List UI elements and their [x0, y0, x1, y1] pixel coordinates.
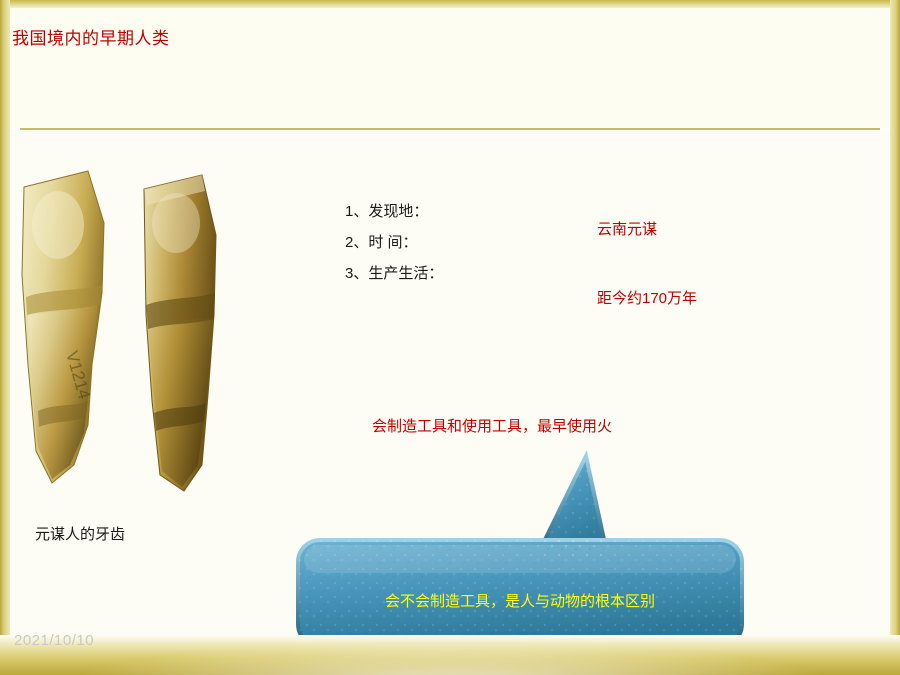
list-item: 3、生产生活： [345, 258, 443, 289]
slide-frame-left [0, 0, 10, 675]
date-stamp: 2021/10/10 [14, 632, 94, 649]
photo-caption: 元谋人的牙齿 [35, 523, 125, 544]
presentation-slide: 我国境内的早期人类 [0, 0, 900, 675]
callout-bubble [290, 440, 750, 655]
list-item: 2、时 间： [345, 227, 443, 258]
slide-frame-right [890, 0, 900, 675]
slide-frame-top [0, 0, 900, 8]
answer-production-life: 会制造工具和使用工具，最早使用火 [372, 415, 612, 436]
yuanmou-teeth-fossil-photo: V1214 [18, 165, 268, 515]
fossil-illustration: V1214 [18, 165, 268, 515]
slide-frame-bottom-highlight [0, 635, 900, 675]
question-list: 1、发现地： 2、时 间： 3、生产生活： [345, 196, 443, 289]
answer-time-period: 距今约170万年 [597, 287, 697, 308]
callout-shape [290, 440, 750, 655]
list-item: 1、发现地： [345, 196, 443, 227]
answer-discovery-place: 云南元谋 [597, 218, 657, 239]
callout-text: 会不会制造工具，是人与动物的根本区别 [320, 590, 720, 611]
page-title: 我国境内的早期人类 [12, 24, 170, 49]
